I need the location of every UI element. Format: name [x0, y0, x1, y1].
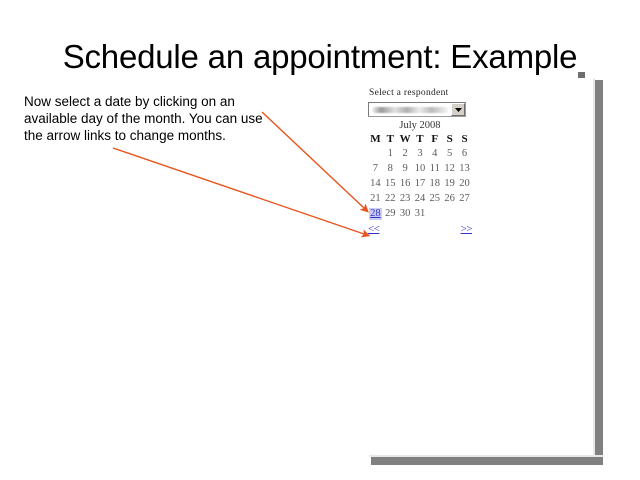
- calendar-day-empty: [368, 146, 383, 161]
- calendar-day: 27: [457, 191, 472, 206]
- weekday-header-wed: W: [398, 132, 413, 146]
- calendar-day: 12: [442, 161, 457, 176]
- calendar-day: 18: [427, 176, 442, 191]
- calendar-day: 19: [442, 176, 457, 191]
- calendar-day: 22: [383, 191, 398, 206]
- calendar-day: 8: [383, 161, 398, 176]
- slide-canvas: Schedule an appointment: Example Now sel…: [0, 0, 640, 480]
- calendar-day: 5: [442, 146, 457, 161]
- calendar-day: 9: [398, 161, 413, 176]
- calendar-day: 20: [457, 176, 472, 191]
- calendar-day: 31: [413, 206, 428, 221]
- calendar-day-selected[interactable]: 28: [368, 206, 383, 221]
- calendar-nav: << >>: [368, 223, 472, 235]
- slide-shadow-bottom: [371, 457, 603, 465]
- calendar-week-row: 14151617181920: [368, 176, 472, 191]
- respondent-label: Select a respondent: [369, 88, 488, 98]
- respondent-select[interactable]: [368, 102, 466, 117]
- calendar-day-empty: [442, 206, 457, 221]
- calendar-weekday-row: M T W T F S S: [368, 132, 472, 146]
- calendar-day: 6: [457, 146, 472, 161]
- weekday-header-fri: F: [427, 132, 442, 146]
- calendar-day: 29: [383, 206, 398, 221]
- calendar-week-row: 123456: [368, 146, 472, 161]
- calendar-day: 23: [398, 191, 413, 206]
- calendar-day: 3: [413, 146, 428, 161]
- arrow-to-month-nav: [113, 148, 364, 234]
- calendar-day: 15: [383, 176, 398, 191]
- weekday-header-tue: T: [383, 132, 398, 146]
- calendar-week-row: 21222324252627: [368, 191, 472, 206]
- calendar-day: 24: [413, 191, 428, 206]
- next-month-link[interactable]: >>: [461, 223, 472, 235]
- calendar-day-link[interactable]: 28: [369, 208, 382, 220]
- weekday-header-mon: M: [368, 132, 383, 146]
- page-title: Schedule an appointment: Example: [0, 38, 640, 76]
- instruction-text: Now select a date by clicking on an avai…: [24, 93, 276, 144]
- calendar-table: M T W T F S S 12345678910111213141516171…: [368, 132, 472, 221]
- calendar-day: 13: [457, 161, 472, 176]
- calendar-week-row: 28293031: [368, 206, 472, 221]
- calendar-month-title: July 2008: [368, 120, 472, 131]
- calendar-day: 2: [398, 146, 413, 161]
- respondent-select-value: [369, 103, 451, 116]
- calendar-day-empty: [457, 206, 472, 221]
- calendar-day: 10: [413, 161, 428, 176]
- calendar-body: 1234567891011121314151617181920212223242…: [368, 146, 472, 221]
- calendar-day: 25: [427, 191, 442, 206]
- arrow-to-selected-day: [262, 112, 364, 208]
- calendar-day: 16: [398, 176, 413, 191]
- calendar-day: 17: [413, 176, 428, 191]
- calendar-day: 26: [442, 191, 457, 206]
- calendar-day: 1: [383, 146, 398, 161]
- calendar-day: 14: [368, 176, 383, 191]
- calendar-day: 11: [427, 161, 442, 176]
- slide-shadow-right: [595, 80, 603, 461]
- calendar-day-empty: [427, 206, 442, 221]
- chevron-down-icon[interactable]: [451, 103, 465, 116]
- calendar-day: 7: [368, 161, 383, 176]
- weekday-header-sun: S: [457, 132, 472, 146]
- prev-month-link[interactable]: <<: [368, 223, 379, 235]
- calendar-widget: Select a respondent July 2008 M T W T F …: [368, 88, 488, 235]
- weekday-header-sat: S: [442, 132, 457, 146]
- calendar-day: 4: [427, 146, 442, 161]
- calendar-day: 30: [398, 206, 413, 221]
- weekday-header-thu: T: [413, 132, 428, 146]
- calendar-week-row: 78910111213: [368, 161, 472, 176]
- calendar-day: 21: [368, 191, 383, 206]
